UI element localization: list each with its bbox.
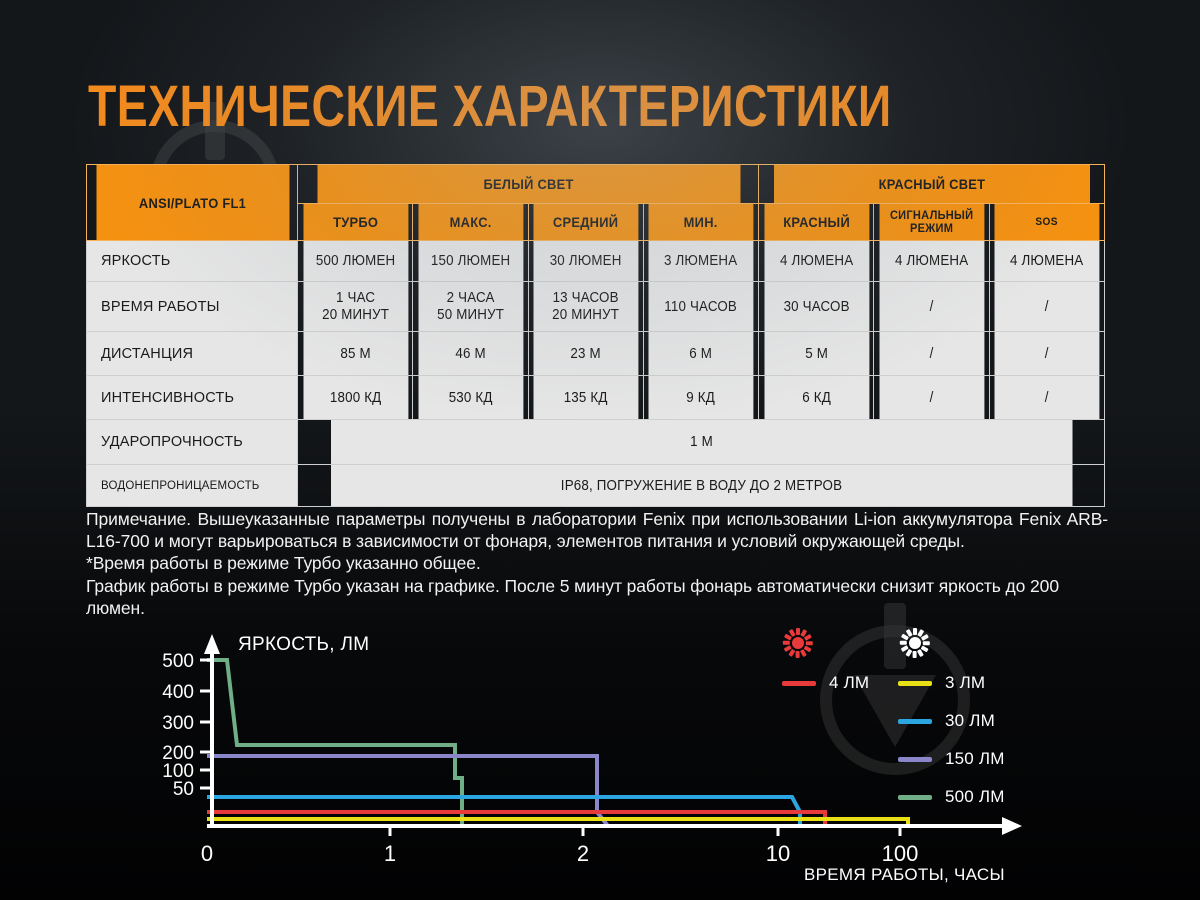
legend-swatch-30lm [898, 719, 932, 724]
legend-swatch-4lm [782, 681, 816, 686]
slide-canvas: ТЕХНИЧЕСКИЕ ХАРАКТЕРИСТИКИ ANSI/PLATO FL… [0, 0, 1200, 900]
legend-label-3lm: 3 ЛМ [945, 673, 985, 693]
sun-ray [913, 652, 917, 659]
chart-y-tick-label: 50 [173, 779, 194, 800]
legend-label-500lm: 500 ЛМ [945, 787, 1005, 807]
sun-ray [804, 646, 811, 652]
sun-ray [913, 628, 917, 635]
chart-x-ticks-group: 01210100 [201, 826, 918, 866]
chart-x-axis-arrow [1002, 817, 1022, 835]
legend-label-150lm: 150 ЛМ [945, 749, 1005, 769]
sun-ray [900, 641, 907, 645]
chart-x-tick-label: 0 [201, 841, 213, 866]
chart-y-tick-label: 400 [162, 682, 194, 703]
chart-x-tick-label: 1 [384, 841, 396, 866]
sun-ray [921, 634, 928, 640]
sun-ray [783, 641, 790, 645]
chart-line-500-лм [207, 660, 462, 826]
legend-label-30lm: 30 ЛМ [945, 711, 995, 731]
chart-legend: 4 ЛМ 3 ЛМ 30 ЛМ 150 ЛМ 500 ЛМ [770, 625, 1070, 805]
sun-ray [921, 646, 928, 652]
legend-swatch-3lm [898, 681, 932, 686]
legend-item-red-4lm: 4 ЛМ [782, 673, 869, 693]
chart-y-tick-label: 300 [162, 713, 194, 734]
sun-ray [923, 641, 930, 645]
legend-item-white-30lm: 30 ЛМ [898, 711, 995, 731]
sun-ray [806, 641, 813, 645]
chart-line-150-лм [207, 756, 608, 826]
chart-x-tick-label: 10 [766, 841, 790, 866]
chart-y-axis-arrow [204, 634, 220, 654]
sun-icon-red [783, 628, 813, 658]
chart-y-tick-label: 500 [162, 651, 194, 672]
legend-label-4lm: 4 ЛМ [829, 673, 869, 693]
chart-x-tick-label: 2 [577, 841, 589, 866]
sun-ray [804, 634, 811, 640]
sun-ray [796, 628, 800, 635]
legend-item-white-150lm: 150 ЛМ [898, 749, 1005, 769]
legend-item-white-500lm: 500 ЛМ [898, 787, 1005, 807]
chart-x-tick-label: 100 [882, 841, 919, 866]
sun-ray [906, 649, 912, 656]
chart-y-ticks-group: 50040030020010050 [162, 651, 212, 800]
legend-swatch-150lm [898, 757, 932, 762]
sun-icon-white [900, 628, 930, 658]
sun-ray [801, 649, 807, 656]
legend-item-white-3lm: 3 ЛМ [898, 673, 985, 693]
sun-ray [918, 649, 924, 656]
legend-swatch-500lm [898, 795, 932, 800]
sun-ray [796, 652, 800, 659]
sun-ray [789, 649, 795, 656]
